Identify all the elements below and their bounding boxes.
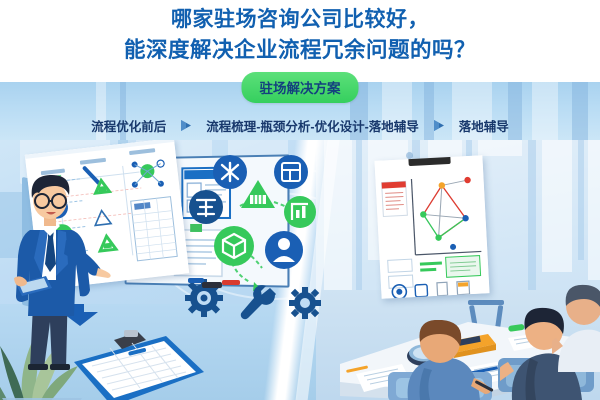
triangle-right-icon (432, 119, 446, 132)
marker-tray (188, 276, 244, 295)
triangle-right-icon (179, 119, 193, 132)
nav-separator-2 (423, 119, 455, 132)
presentation-flipchart (374, 155, 489, 298)
service-icon-cluster (178, 152, 338, 332)
presenter-figure (0, 172, 114, 372)
process-nav: 流程优化前后 流程梳理-瓶颈分析-优化设计-落地辅导 落地辅导 (0, 110, 600, 140)
marker-dark (202, 282, 222, 288)
page-title: 哪家驻场咨询公司比较好， 能深度解决企业流程冗余问题的吗？ (0, 4, 600, 66)
nav-separator-1 (170, 119, 202, 132)
marker-blue (188, 278, 204, 283)
marker-red (222, 280, 240, 285)
poster-root: 哪家驻场咨询公司比较好， 能深度解决企业流程冗余问题的吗？ 驻场解决方案 流程优… (0, 0, 600, 400)
page-title-line-1: 哪家驻场咨询公司比较好， (0, 4, 600, 35)
gear-icon-2 (289, 287, 321, 319)
solution-badge: 驻场解决方案 (242, 72, 359, 103)
nav-step-3: 落地辅导 (455, 116, 513, 135)
nav-step-1: 流程优化前后 (87, 116, 170, 135)
attendee-far-right (552, 282, 600, 377)
chart-icon (284, 196, 316, 228)
illustration-scene: 流 (0, 140, 600, 400)
wrench-icon (241, 285, 276, 319)
page-header: 哪家驻场咨询公司比较好， 能深度解决企业流程冗余问题的吗？ 驻场解决方案 流程优… (0, 0, 600, 140)
page-title-line-2: 能深度解决企业流程冗余问题的吗？ (0, 35, 600, 66)
attendee-front-left (390, 320, 500, 400)
nav-step-2: 流程梳理-瓶颈分析-优化设计-落地辅导 (202, 116, 423, 135)
